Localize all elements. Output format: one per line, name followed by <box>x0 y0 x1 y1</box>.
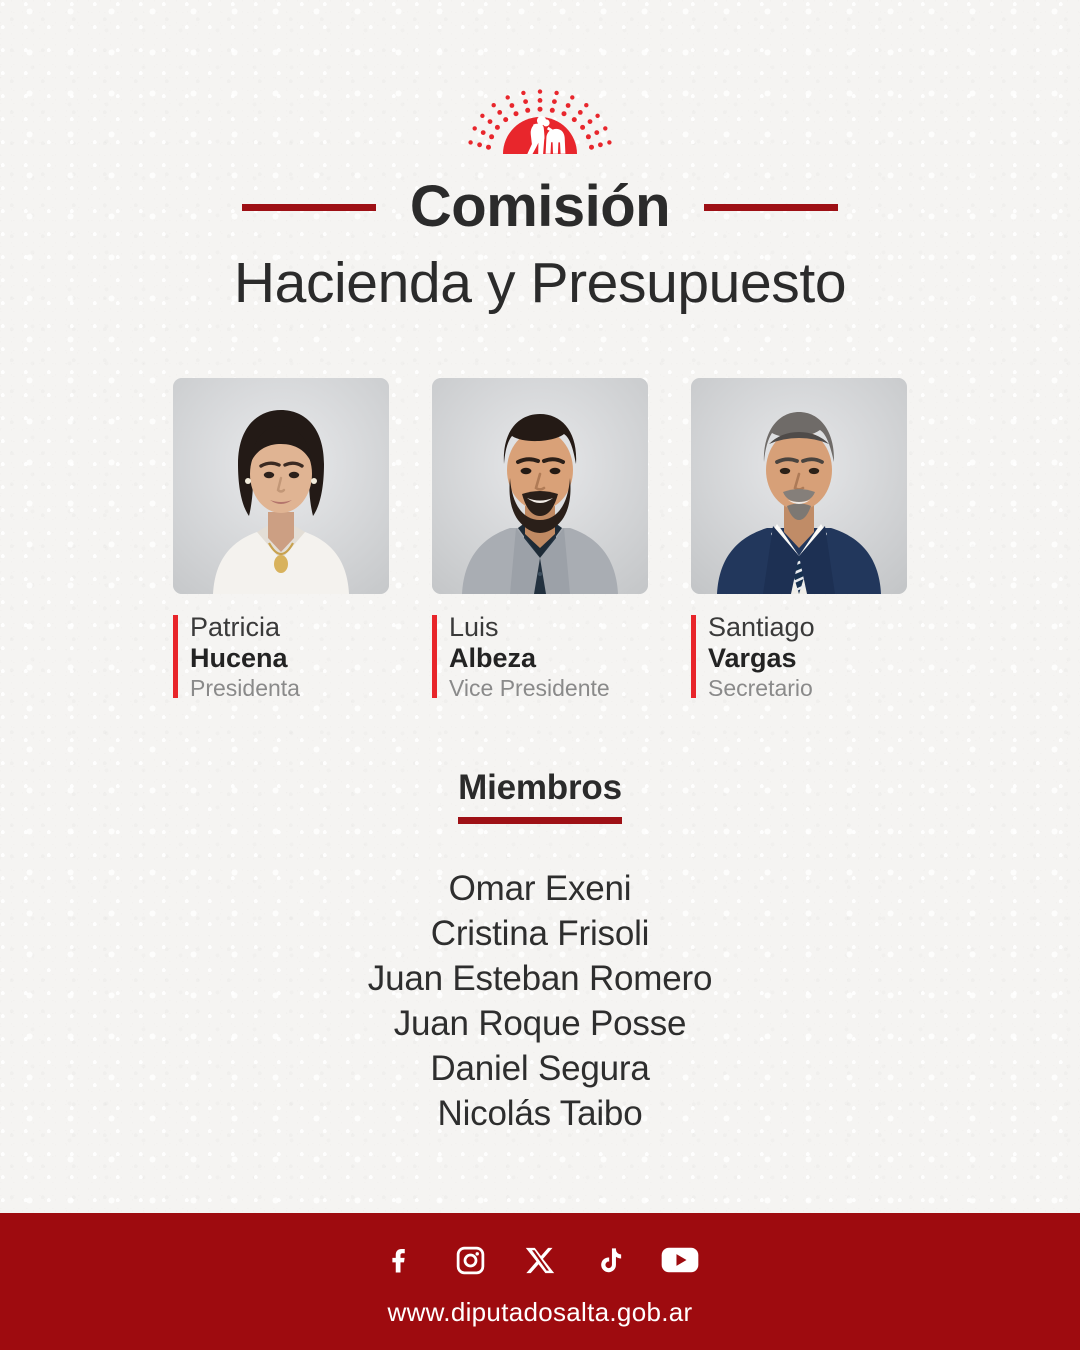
portrait-photo-santiago-vargas <box>691 378 907 594</box>
members-section: Miembros Omar Exeni Cristina Frisoli Jua… <box>0 768 1080 1136</box>
tiktok-icon[interactable] <box>589 1239 631 1281</box>
portrait-photo-luis-albeza <box>432 378 648 594</box>
institution-logo <box>0 78 1080 154</box>
instagram-icon[interactable] <box>449 1239 491 1281</box>
salta-legislature-dome-logo <box>467 78 613 154</box>
page-subtitle: Hacienda y Presupuesto <box>0 252 1080 316</box>
authority-first-name: Luis <box>449 612 648 643</box>
authority-name-block: Patricia Hucena Presidenta <box>173 612 389 702</box>
authority-first-name: Santiago <box>708 612 907 643</box>
title-row: Comisión <box>0 178 1080 236</box>
authority-role: Presidenta <box>190 674 389 702</box>
facebook-icon[interactable] <box>379 1239 421 1281</box>
page-title: Comisión <box>410 178 670 236</box>
authority-last-name: Albeza <box>449 643 648 674</box>
authority-first-name: Patricia <box>190 612 389 643</box>
header: Comisión Hacienda y Presupuesto <box>0 178 1080 316</box>
authority-name-block: Santiago Vargas Secretario <box>691 612 907 702</box>
authority-role: Vice Presidente <box>449 674 648 702</box>
website-url[interactable]: www.diputadosalta.gob.ar <box>388 1297 693 1328</box>
title-rule-left <box>242 204 376 211</box>
list-item: Daniel Segura <box>0 1046 1080 1091</box>
list-item: Cristina Frisoli <box>0 911 1080 956</box>
authorities-row: Patricia Hucena Presidenta <box>173 378 907 702</box>
list-item: Juan Esteban Romero <box>0 956 1080 1001</box>
authority-card: Luis Albeza Vice Presidente <box>432 378 648 702</box>
authority-card: Santiago Vargas Secretario <box>691 378 907 702</box>
authority-last-name: Hucena <box>190 643 389 674</box>
authority-last-name: Vargas <box>708 643 907 674</box>
authority-role: Secretario <box>708 674 907 702</box>
list-item: Juan Roque Posse <box>0 1001 1080 1046</box>
authority-name-block: Luis Albeza Vice Presidente <box>432 612 648 702</box>
authority-card: Patricia Hucena Presidenta <box>173 378 389 702</box>
youtube-icon[interactable] <box>659 1239 701 1281</box>
x-twitter-icon[interactable] <box>519 1239 561 1281</box>
portrait-photo-patricia-hucena <box>173 378 389 594</box>
members-list: Omar Exeni Cristina Frisoli Juan Esteban… <box>0 866 1080 1136</box>
list-item: Omar Exeni <box>0 866 1080 911</box>
title-rule-right <box>704 204 838 211</box>
social-links <box>379 1239 701 1281</box>
list-item: Nicolás Taibo <box>0 1091 1080 1136</box>
footer-bar: www.diputadosalta.gob.ar <box>0 1213 1080 1350</box>
members-heading: Miembros <box>458 768 622 824</box>
